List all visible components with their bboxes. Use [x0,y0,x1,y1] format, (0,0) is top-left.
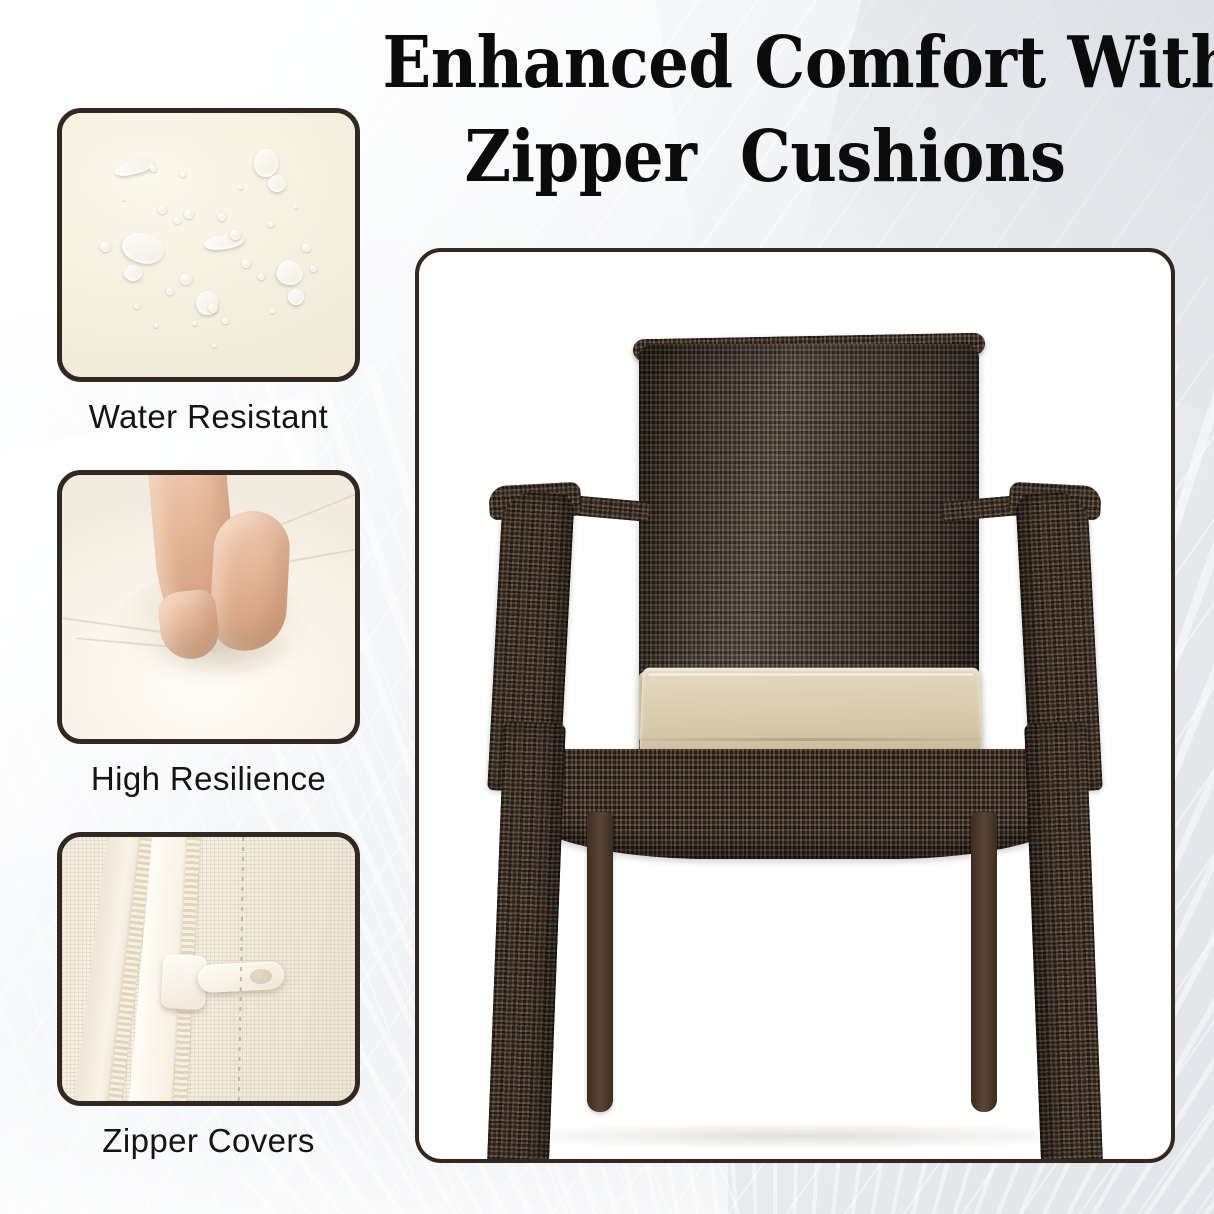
water-droplet-icon [184,209,194,219]
water-droplet-icon [180,171,186,177]
seat-cushion [639,668,983,756]
hand-contact-shadow [148,625,298,679]
water-droplet-icon [166,287,174,295]
water-droplet-icon [122,197,126,201]
water-droplet-icon [238,185,243,190]
water-droplet-icon [302,243,311,252]
water-droplet-icon [192,321,197,326]
product-image-panel[interactable] [415,248,1175,1163]
water-droplet-icon [268,221,274,227]
water-droplet-icon [208,303,218,313]
feature-water-resistant[interactable]: Water Resistant [57,108,360,436]
water-droplet-icon [310,265,317,272]
page-title: Enhanced Comfort With Zipper Cushions [340,26,1190,193]
chair-leg-back-left [587,812,613,1112]
title-line-2: Zipper Cushions [383,120,1148,192]
feature-thumbnail-water-resistant[interactable] [57,108,360,382]
water-droplet-icon [294,205,298,209]
feature-label-water-resistant: Water Resistant [57,398,360,436]
water-droplet-icon [174,217,181,224]
feature-zipper-covers[interactable]: Zipper Covers [57,832,360,1160]
water-droplet-icon [270,309,275,314]
title-line-1: Enhanced Comfort With [383,26,1148,98]
water-droplet-icon [242,259,251,268]
water-droplet-icon [134,303,140,309]
water-blob-icon [124,265,142,281]
water-droplet-icon [180,273,192,285]
water-blob-icon [268,175,286,192]
water-droplet-icon [212,343,217,348]
water-blob-icon [254,149,278,177]
water-droplet-icon [100,241,111,252]
water-droplet-icon [150,165,157,172]
infographic-canvas: Enhanced Comfort With Zipper Cushions [0,0,1214,1214]
water-droplet-icon [158,205,167,214]
wicker-armchair-illustration [419,252,1171,1159]
feature-thumbnail-high-resilience[interactable] [57,470,360,744]
water-droplet-icon [230,229,241,240]
water-droplet-icon [218,213,226,221]
feature-high-resilience[interactable]: High Resilience [57,470,360,798]
feature-label-high-resilience: High Resilience [57,760,360,798]
water-droplet-icon [258,273,265,280]
water-blob-icon [288,289,304,305]
chair-leg-back-right [971,812,997,1112]
water-droplet-icon [222,317,229,324]
chair-floor-shadow [489,1123,1109,1149]
feature-thumbnail-zipper-covers[interactable] [57,832,360,1106]
feature-label-zipper-covers: Zipper Covers [57,1122,360,1160]
water-droplet-icon [154,323,159,328]
